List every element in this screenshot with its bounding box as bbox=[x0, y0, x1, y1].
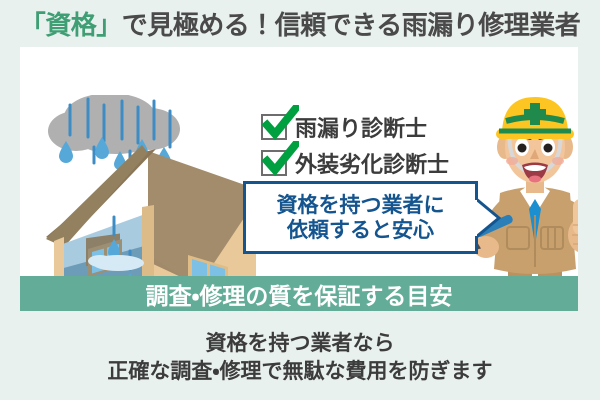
footer-line-2: 正確な調査・修理で無駄な費用を防ぎます bbox=[107, 359, 492, 385]
page-title: 「資格」で見極める！信頼できる雨漏り修理業者 bbox=[0, 0, 600, 46]
checklist-item-label: 雨漏り診断士 bbox=[295, 111, 427, 143]
footer-line-1: 資格を持つ業者なら bbox=[206, 331, 395, 357]
infographic-root: 「資格」で見極める！信頼できる雨漏り修理業者 bbox=[0, 0, 600, 400]
checklist-item-label: 外装劣化診断士 bbox=[295, 147, 449, 179]
speech-bubble-line-1: 資格を持つ業者に bbox=[277, 193, 445, 217]
checklist-item: 外装劣化診断士 bbox=[261, 145, 491, 181]
checkbox bbox=[261, 150, 287, 176]
speech-bubble: 資格を持つ業者に 依頼すると安心 bbox=[243, 181, 478, 254]
checkbox bbox=[261, 114, 287, 140]
hard-hat-icon bbox=[496, 97, 574, 139]
speech-bubble-tail bbox=[475, 196, 501, 240]
page-title-text: 「資格」で見極める！信頼できる雨漏り修理業者 bbox=[20, 5, 581, 42]
check-icon bbox=[261, 105, 299, 143]
illustration-panel: 雨漏り診断士 外装劣化診断士 など bbox=[20, 47, 578, 276]
check-icon bbox=[261, 141, 299, 179]
guarantee-banner: 調査・修理の質を保証する目安 bbox=[20, 276, 578, 311]
footer-caption: 資格を持つ業者なら 正確な調査・修理で無駄な費用を防ぎます bbox=[0, 316, 600, 400]
page-title-rest: で見極める！信頼できる雨漏り修理業者 bbox=[122, 11, 580, 41]
page-title-highlight: 「資格」 bbox=[20, 11, 122, 41]
checklist-item: 雨漏り診断士 bbox=[261, 109, 491, 145]
speech-bubble-line-2: 依頼すると安心 bbox=[287, 218, 434, 242]
house-leak-illustration bbox=[38, 95, 264, 276]
guarantee-banner-text: 調査・修理の質を保証する目安 bbox=[146, 277, 453, 311]
